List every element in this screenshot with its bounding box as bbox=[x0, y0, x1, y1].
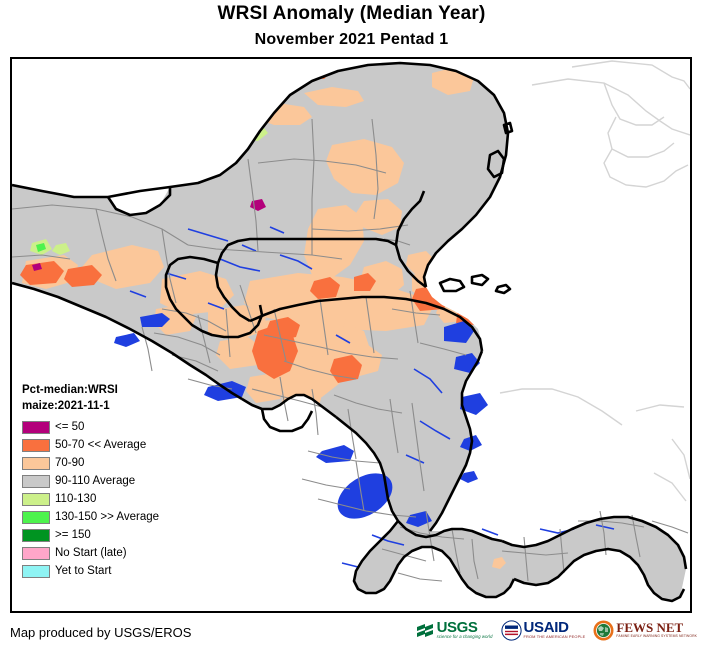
legend-row: No Start (late) bbox=[22, 544, 222, 562]
legend-swatch bbox=[22, 439, 50, 452]
legend-row: >= 150 bbox=[22, 526, 222, 544]
usgs-wordmark: USGS bbox=[437, 621, 493, 634]
fews-wordmark: FEWS NET bbox=[616, 622, 697, 634]
legend-row: 90-110 Average bbox=[22, 472, 222, 490]
legend-label: 70-90 bbox=[55, 457, 84, 470]
usgs-wave-icon bbox=[416, 621, 436, 641]
fews-globe-icon bbox=[593, 620, 614, 641]
legend-swatch bbox=[22, 475, 50, 488]
usaid-seal-icon bbox=[501, 620, 522, 641]
legend-swatch bbox=[22, 547, 50, 560]
legend-label: Yet to Start bbox=[55, 565, 111, 578]
legend-swatch bbox=[22, 421, 50, 434]
legend-rows: <= 5050-70 << Average70-9090-110 Average… bbox=[22, 418, 222, 580]
legend-row: Yet to Start bbox=[22, 562, 222, 580]
usaid-logo: USAID FROM THE AMERICAN PEOPLE bbox=[501, 620, 586, 641]
legend-label: 110-130 bbox=[55, 493, 96, 506]
legend-label: 50-70 << Average bbox=[55, 439, 146, 452]
fews-net-logo: FEWS NET FAMINE EARLY WARNING SYSTEMS NE… bbox=[593, 620, 697, 641]
produced-by-note: Map produced by USGS/EROS bbox=[10, 625, 191, 640]
map-frame[interactable]: Pct-median:WRSI maize:2021-11-1 <= 5050-… bbox=[10, 57, 692, 613]
legend-label: 130-150 >> Average bbox=[55, 511, 159, 524]
legend-title-line2: maize:2021-11-1 bbox=[22, 398, 222, 414]
usgs-logo: USGS science for a changing world bbox=[416, 621, 493, 641]
fews-tagline: FAMINE EARLY WARNING SYSTEMS NETWORK bbox=[616, 634, 697, 639]
usaid-tagline: FROM THE AMERICAN PEOPLE bbox=[524, 634, 586, 640]
usaid-wordmark: USAID bbox=[524, 621, 586, 634]
legend-swatch bbox=[22, 493, 50, 506]
legend-row: <= 50 bbox=[22, 418, 222, 436]
legend-row: 130-150 >> Average bbox=[22, 508, 222, 526]
agency-logos: USGS science for a changing world USAID … bbox=[416, 620, 697, 641]
page-title: WRSI Anomaly (Median Year) bbox=[0, 3, 703, 25]
legend-title-line1: Pct-median:WRSI bbox=[22, 382, 222, 398]
legend-swatch bbox=[22, 511, 50, 524]
legend-row: 70-90 bbox=[22, 454, 222, 472]
legend-row: 50-70 << Average bbox=[22, 436, 222, 454]
legend-label: No Start (late) bbox=[55, 547, 127, 560]
map-page: WRSI Anomaly (Median Year) November 2021… bbox=[0, 0, 703, 662]
legend-label: <= 50 bbox=[55, 421, 84, 434]
legend-row: 110-130 bbox=[22, 490, 222, 508]
page-subtitle: November 2021 Pentad 1 bbox=[0, 31, 703, 49]
map-legend: Pct-median:WRSI maize:2021-11-1 <= 5050-… bbox=[22, 382, 222, 580]
legend-label: 90-110 Average bbox=[55, 475, 135, 488]
legend-swatch bbox=[22, 457, 50, 470]
legend-label: >= 150 bbox=[55, 529, 91, 542]
legend-swatch bbox=[22, 565, 50, 578]
legend-swatch bbox=[22, 529, 50, 542]
usgs-tagline: science for a changing world bbox=[437, 634, 493, 640]
